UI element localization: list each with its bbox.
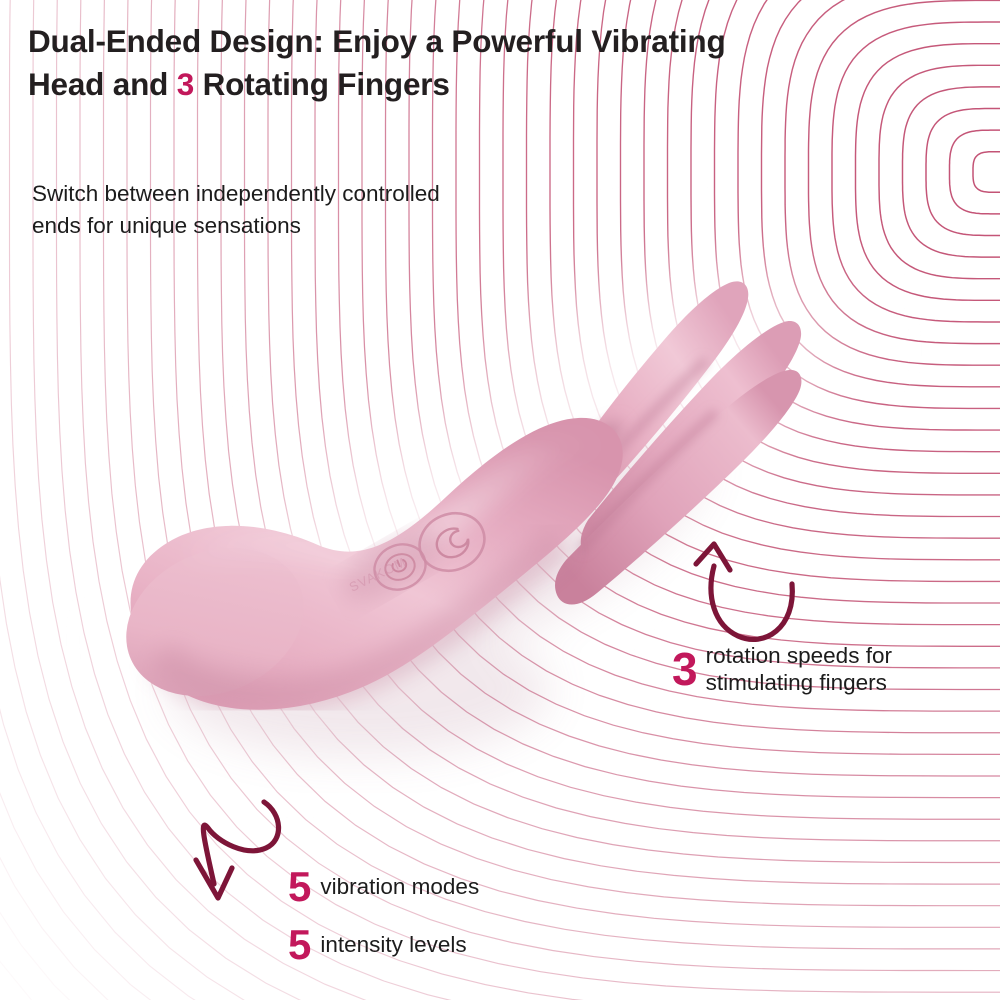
infographic-page: SVAKOM Dual-Ended Design: Enjoy a Powerf… bbox=[0, 0, 1000, 1000]
subtitle: Switch between independently controlled … bbox=[32, 178, 592, 242]
subtitle-line-2: ends for unique sensations bbox=[32, 213, 301, 238]
page-title: Dual-Ended Design: Enjoy a Powerful Vibr… bbox=[28, 20, 828, 106]
callout-rotation-line-2: stimulating fingers bbox=[706, 670, 887, 695]
product-illustration: SVAKOM bbox=[0, 0, 1000, 1000]
headline-line-2-post: Rotating Fingers bbox=[194, 66, 450, 102]
headline-line-1: Dual-Ended Design: Enjoy a Powerful Vibr… bbox=[28, 23, 726, 59]
arrow-to-fingers-icon bbox=[686, 536, 806, 656]
arrow-to-head-icon bbox=[180, 798, 300, 918]
callout-intensity-text: intensity levels bbox=[320, 931, 466, 958]
callout-intensity-levels: 5 intensity levels bbox=[288, 924, 467, 966]
callout-vibration-modes: 5 vibration modes bbox=[288, 866, 479, 908]
headline-line-2-pre: Head and bbox=[28, 66, 177, 102]
headline-accent-number: 3 bbox=[177, 66, 194, 102]
subtitle-line-1: Switch between independently controlled bbox=[32, 181, 440, 206]
callout-vibration-text: vibration modes bbox=[320, 873, 479, 900]
callout-intensity-number: 5 bbox=[288, 924, 311, 966]
